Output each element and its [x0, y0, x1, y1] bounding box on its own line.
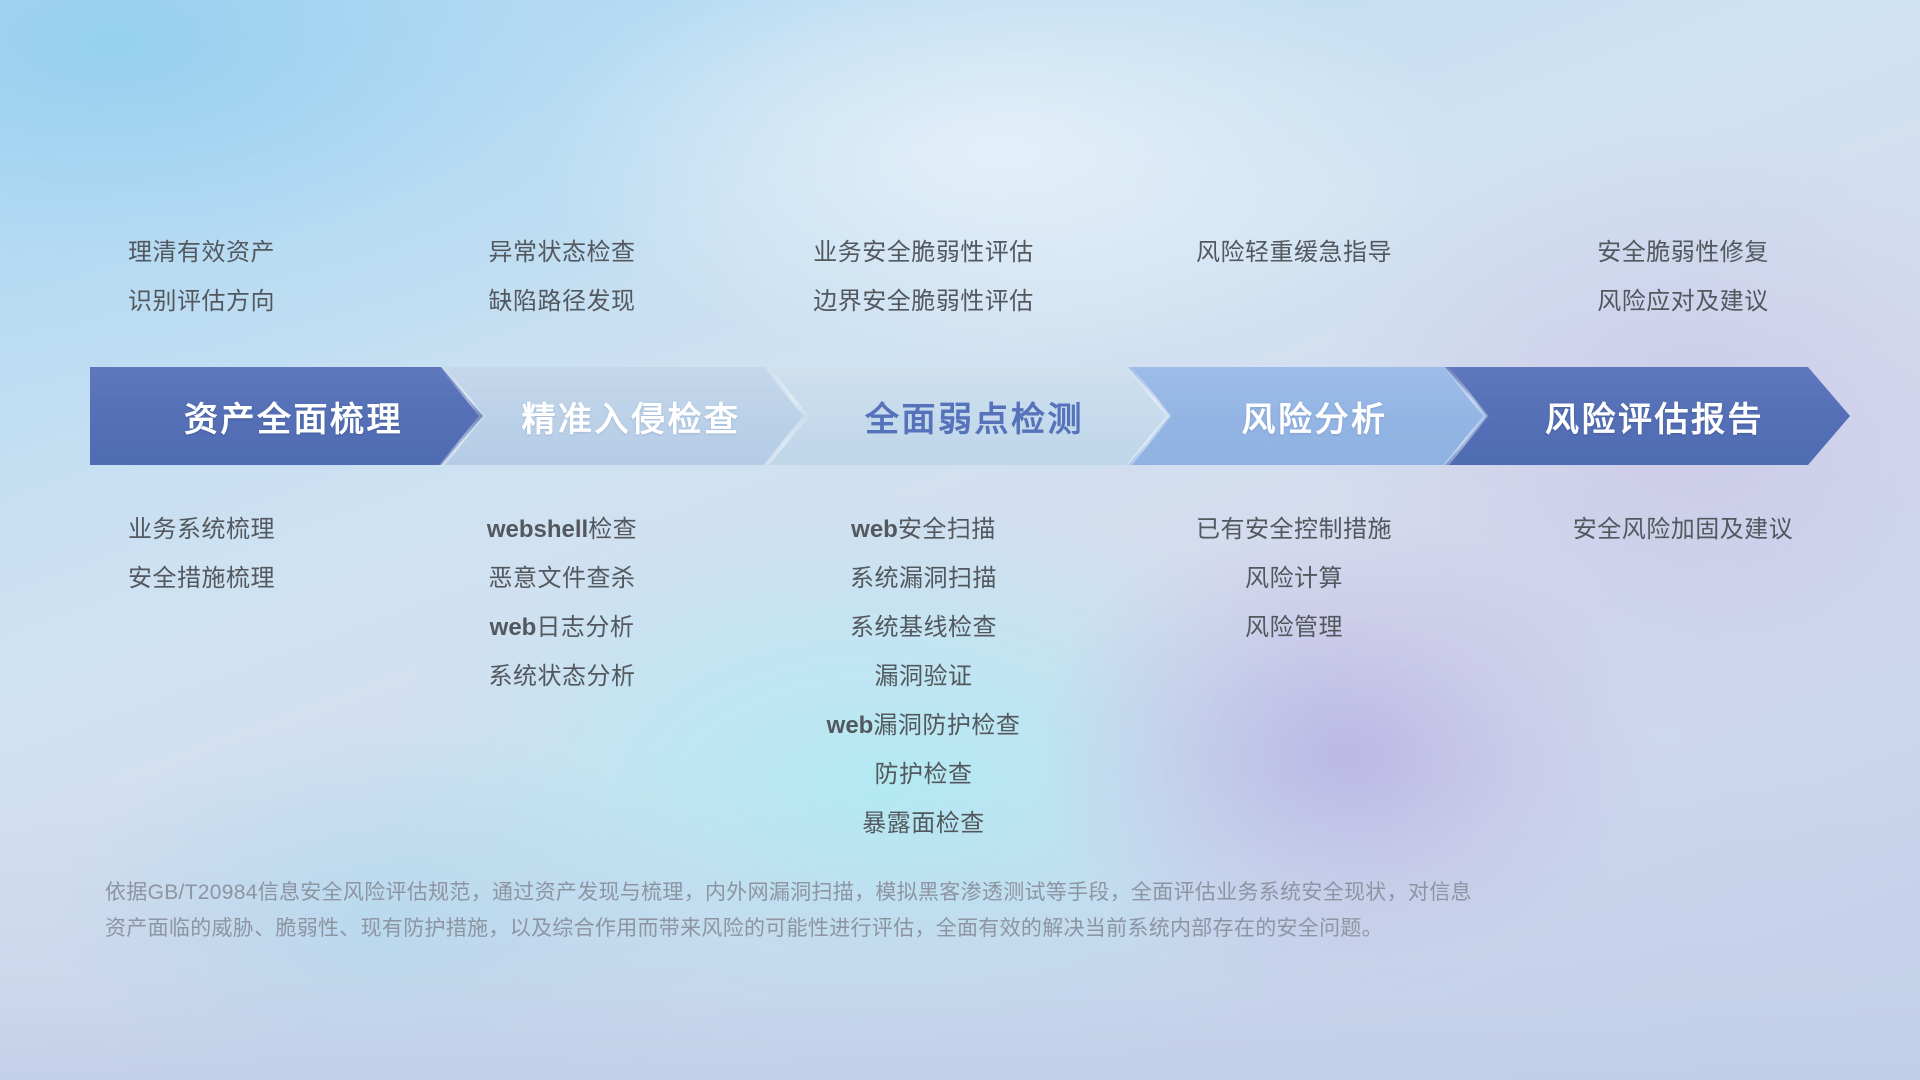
bottom-notes-risk-analysis: 已有安全控制措施风险计算风险管理: [1100, 505, 1440, 652]
slide-content: 理清有效资产识别评估方向 异常状态检查缺陷路径发现 业务安全脆弱性评估边界安全脆…: [0, 0, 1920, 1080]
note-item: web安全扫描: [851, 505, 996, 554]
top-notes-risk-analysis: 风险轻重缓急指导: [1100, 228, 1440, 338]
note-latin-prefix: webshell: [487, 516, 588, 543]
process-step-label: 风险分析: [1228, 392, 1388, 441]
note-item: 风险轻重缓急指导: [1196, 228, 1392, 277]
slide-canvas: 理清有效资产识别评估方向 异常状态检查缺陷路径发现 业务安全脆弱性评估边界安全脆…: [0, 0, 1920, 1080]
process-step-label: 风险评估报告: [1531, 392, 1764, 441]
process-step-weakness-detection[interactable]: 全面弱点检测: [765, 367, 1170, 465]
process-step-label: 资产全面梳理: [170, 392, 403, 441]
process-step-risk-analysis[interactable]: 风险分析: [1128, 367, 1487, 465]
process-step-asset-inventory[interactable]: 资产全面梳理: [90, 367, 483, 465]
note-item: 异常状态检查: [489, 228, 636, 277]
process-step-label: 全面弱点检测: [851, 392, 1084, 441]
note-item: 系统基线检查: [850, 603, 997, 652]
note-latin-prefix: web: [851, 516, 898, 543]
footer-line-1: 依据GB/T20984信息安全风险评估规范，通过资产发现与梳理，内外网漏洞扫描，…: [105, 875, 1805, 911]
bottom-notes-asset-inventory: 业务系统梳理安全措施梳理: [0, 505, 385, 603]
note-item: 已有安全控制措施: [1196, 505, 1392, 554]
note-item: 安全措施梳理: [128, 554, 275, 603]
note-item: 安全风险加固及建议: [1573, 505, 1794, 554]
process-chevron-band: 资产全面梳理精准入侵检查全面弱点检测风险分析风险评估报告: [90, 367, 1850, 465]
note-item: 缺陷路径发现: [489, 277, 636, 326]
note-item: 安全脆弱性修复: [1597, 228, 1769, 277]
note-item: 理清有效资产: [128, 228, 275, 277]
note-item: 恶意文件查杀: [489, 554, 636, 603]
note-item: 暴露面检查: [862, 799, 985, 848]
top-notes-weakness-detection: 业务安全脆弱性评估边界安全脆弱性评估: [725, 228, 1100, 338]
note-item: 识别评估方向: [128, 277, 275, 326]
bottom-notes-row: 业务系统梳理安全措施梳理 webshell检查恶意文件查杀web日志分析系统状态…: [0, 505, 1920, 848]
footer-description: 依据GB/T20984信息安全风险评估规范，通过资产发现与梳理，内外网漏洞扫描，…: [105, 875, 1805, 947]
note-item: web日志分析: [490, 603, 635, 652]
note-item: 业务安全脆弱性评估: [813, 228, 1034, 277]
top-notes-intrusion-check: 异常状态检查缺陷路径发现: [385, 228, 725, 338]
top-notes-row: 理清有效资产识别评估方向 异常状态检查缺陷路径发现 业务安全脆弱性评估边界安全脆…: [0, 228, 1920, 338]
note-item: webshell检查: [487, 505, 637, 554]
note-item: 风险管理: [1245, 603, 1343, 652]
note-item: 系统漏洞扫描: [850, 554, 997, 603]
process-step-risk-report[interactable]: 风险评估报告: [1445, 367, 1850, 465]
note-item: 漏洞验证: [875, 652, 973, 701]
bottom-notes-risk-report: 安全风险加固及建议: [1440, 505, 1920, 554]
bottom-notes-weakness-detection: web安全扫描系统漏洞扫描系统基线检查漏洞验证web漏洞防护检查防护检查暴露面检…: [725, 505, 1100, 848]
note-item: web漏洞防护检查: [827, 701, 1021, 750]
note-item: 业务系统梳理: [128, 505, 275, 554]
process-step-label: 精准入侵检查: [508, 392, 741, 441]
note-item: 防护检查: [875, 750, 973, 799]
note-item: 系统状态分析: [489, 652, 636, 701]
note-latin-prefix: web: [490, 614, 537, 641]
bottom-notes-intrusion-check: webshell检查恶意文件查杀web日志分析系统状态分析: [385, 505, 725, 701]
process-step-intrusion-check[interactable]: 精准入侵检查: [441, 367, 807, 465]
top-notes-risk-report: 安全脆弱性修复风险应对及建议: [1440, 228, 1920, 338]
note-item: 风险计算: [1245, 554, 1343, 603]
top-notes-asset-inventory: 理清有效资产识别评估方向: [0, 228, 385, 338]
note-item: 风险应对及建议: [1597, 277, 1769, 326]
note-item: 边界安全脆弱性评估: [813, 277, 1034, 326]
footer-line-2: 资产面临的威胁、脆弱性、现有防护措施，以及综合作用而带来风险的可能性进行评估，全…: [105, 911, 1805, 947]
note-latin-prefix: web: [827, 712, 874, 739]
